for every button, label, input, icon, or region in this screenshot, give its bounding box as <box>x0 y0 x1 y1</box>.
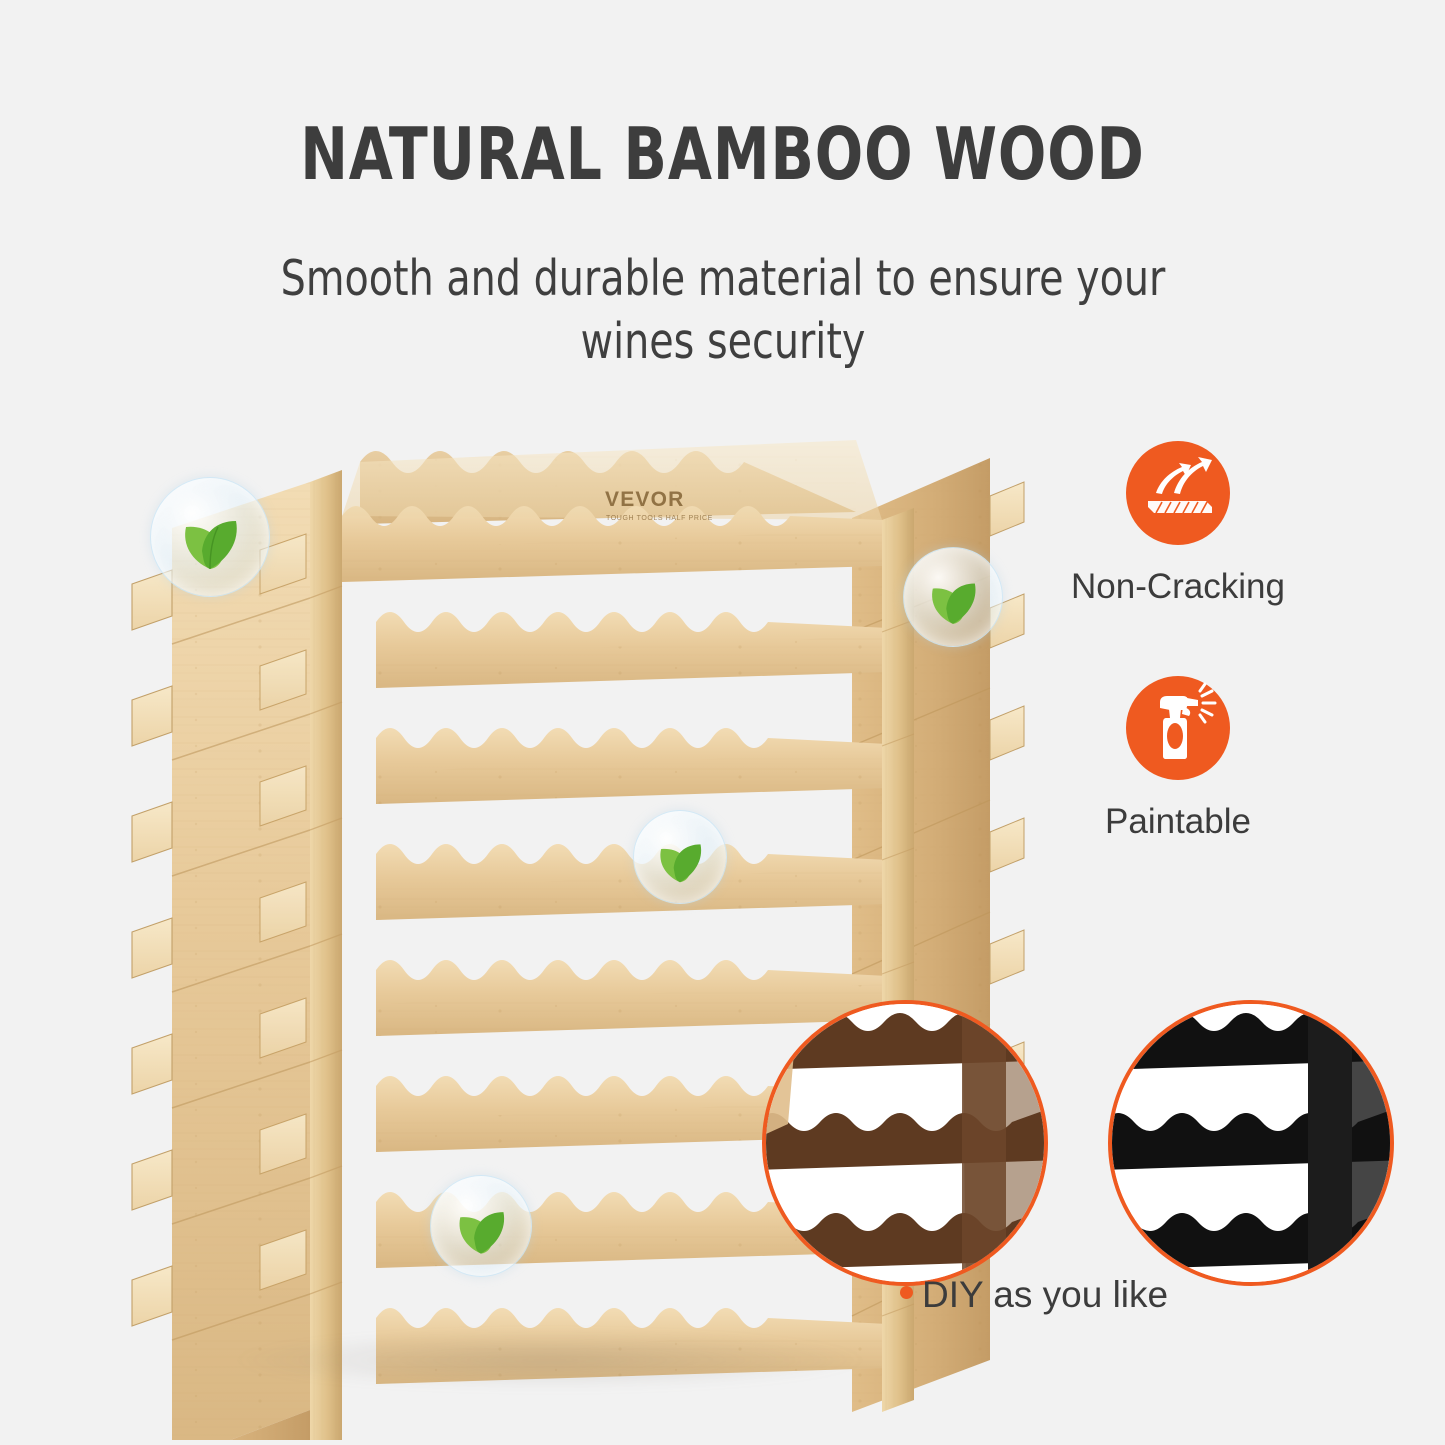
leaf-bubble-top-left <box>150 477 270 597</box>
inset-black-finish <box>1108 1000 1394 1286</box>
tenon-tabs-left <box>132 570 172 1326</box>
rack-left-side-panel <box>132 482 310 1440</box>
shelf-tier-3 <box>376 728 888 804</box>
feature-label: Non-Cracking <box>1028 567 1328 607</box>
shelf-tier-4 <box>376 844 888 920</box>
inset-dark-brown-finish <box>762 1000 1048 1286</box>
feature-paintable: Paintable <box>1028 676 1328 842</box>
brand-tagline: TOUGH TOOLS HALF PRICE <box>606 515 713 522</box>
rack-front-left-post <box>310 470 342 1440</box>
leaf-bubble-top-right <box>903 547 1003 647</box>
feature-label: Paintable <box>1028 802 1328 842</box>
marketing-banner: NATURAL BAMBOO WOOD Smooth and durable m… <box>0 0 1445 1445</box>
spray-bottle-icon <box>1126 676 1230 780</box>
page-title: NATURAL BAMBOO WOOD <box>87 118 1359 190</box>
feature-non-cracking: Non-Cracking <box>1028 441 1328 607</box>
leaf-bubble-middle <box>633 810 727 904</box>
brand-name: VEVOR <box>605 488 685 511</box>
bullet-dot-icon <box>900 1286 913 1299</box>
leaf-bubble-bottom <box>430 1175 532 1277</box>
diy-caption-text: DIY as you like <box>922 1274 1168 1315</box>
subtitle-line-1: Smooth and durable material to ensure yo… <box>241 248 1204 311</box>
shelf-tier-5 <box>376 960 888 1036</box>
shelf-tier-2 <box>376 612 888 688</box>
page-subtitle: Smooth and durable material to ensure yo… <box>241 248 1204 373</box>
subtitle-line-2: wines security <box>241 311 1204 374</box>
wood-plank-arrows-icon <box>1126 441 1230 545</box>
product-shadow <box>230 1330 870 1390</box>
rack-front-shelves <box>342 506 888 1384</box>
diy-caption: DIY as you like <box>900 1272 1168 1316</box>
